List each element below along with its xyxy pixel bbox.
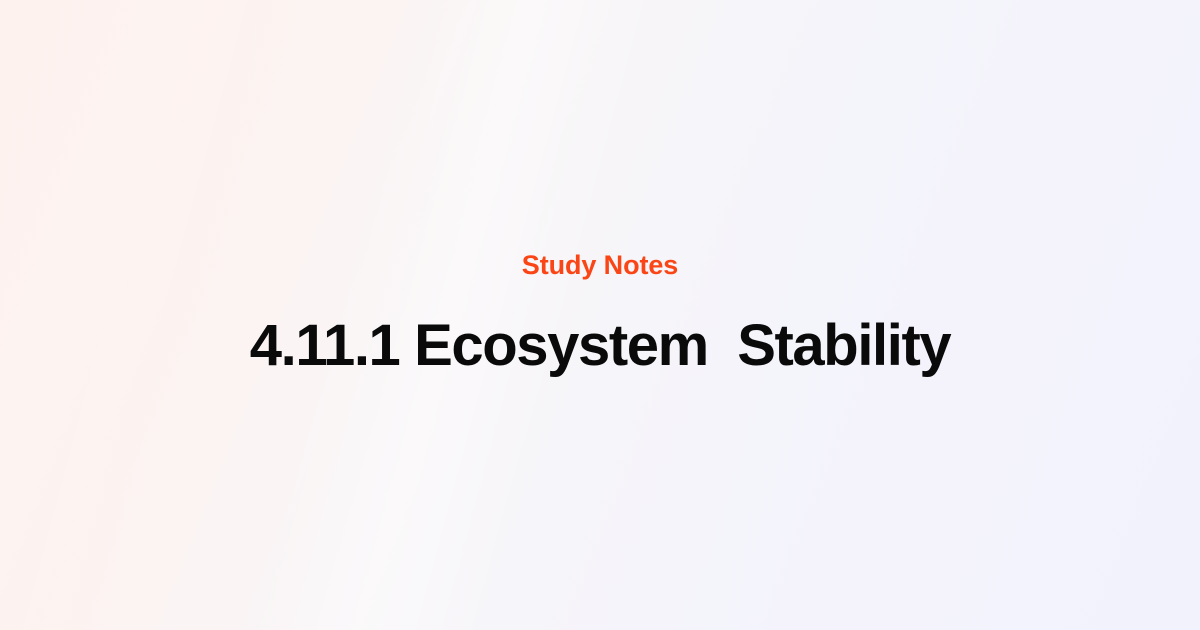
page-title: 4.11.1 Ecosystem Stability	[250, 315, 950, 378]
study-notes-banner: Study Notes 4.11.1 Ecosystem Stability	[0, 0, 1200, 630]
banner-content: Study Notes 4.11.1 Ecosystem Stability	[0, 0, 1200, 630]
eyebrow-label: Study Notes	[522, 252, 678, 279]
